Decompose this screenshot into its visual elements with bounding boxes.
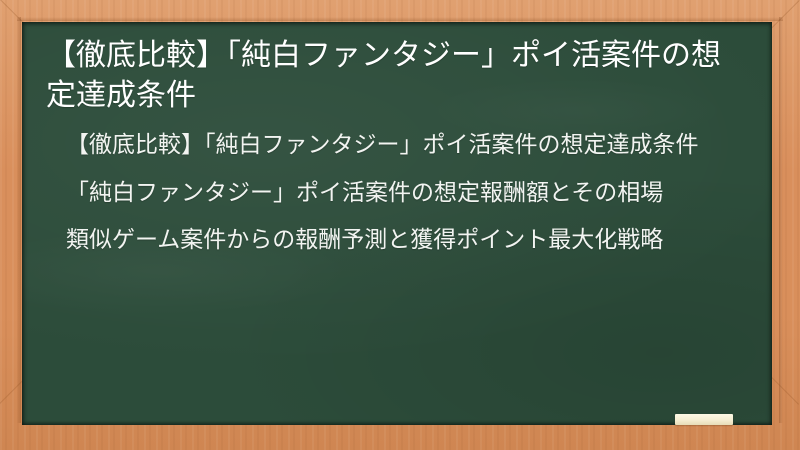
chalkboard-content: 【徹底比較】「純白ファンタジー」ポイ活案件の想定達成条件 【徹底比較】「純白ファ… xyxy=(22,22,772,257)
list-item[interactable]: 「純白ファンタジー」ポイ活案件の想定報酬額とその相場 xyxy=(46,178,750,210)
list-item[interactable]: 【徹底比較】「純白ファンタジー」ポイ活案件の想定達成条件 xyxy=(46,130,750,162)
chalkboard-surface: 【徹底比較】「純白ファンタジー」ポイ活案件の想定達成条件 【徹底比較】「純白ファ… xyxy=(22,22,772,425)
page-title: 【徹底比較】「純白ファンタジー」ポイ活案件の想定達成条件 xyxy=(46,36,750,116)
chalk-stick-icon xyxy=(675,414,733,425)
frame-bevel-right xyxy=(779,17,783,423)
table-of-contents: 【徹底比較】「純白ファンタジー」ポイ活案件の想定達成条件 「純白ファンタジー」ポ… xyxy=(46,130,750,257)
frame-bevel-top xyxy=(17,17,783,21)
list-item[interactable]: 類似ゲーム案件からの報酬予測と獲得ポイント最大化戦略 xyxy=(46,225,750,257)
chalkboard-scene: 【徹底比較】「純白ファンタジー」ポイ活案件の想定達成条件 【徹底比較】「純白ファ… xyxy=(0,0,800,450)
frame-bevel-left xyxy=(17,17,21,423)
